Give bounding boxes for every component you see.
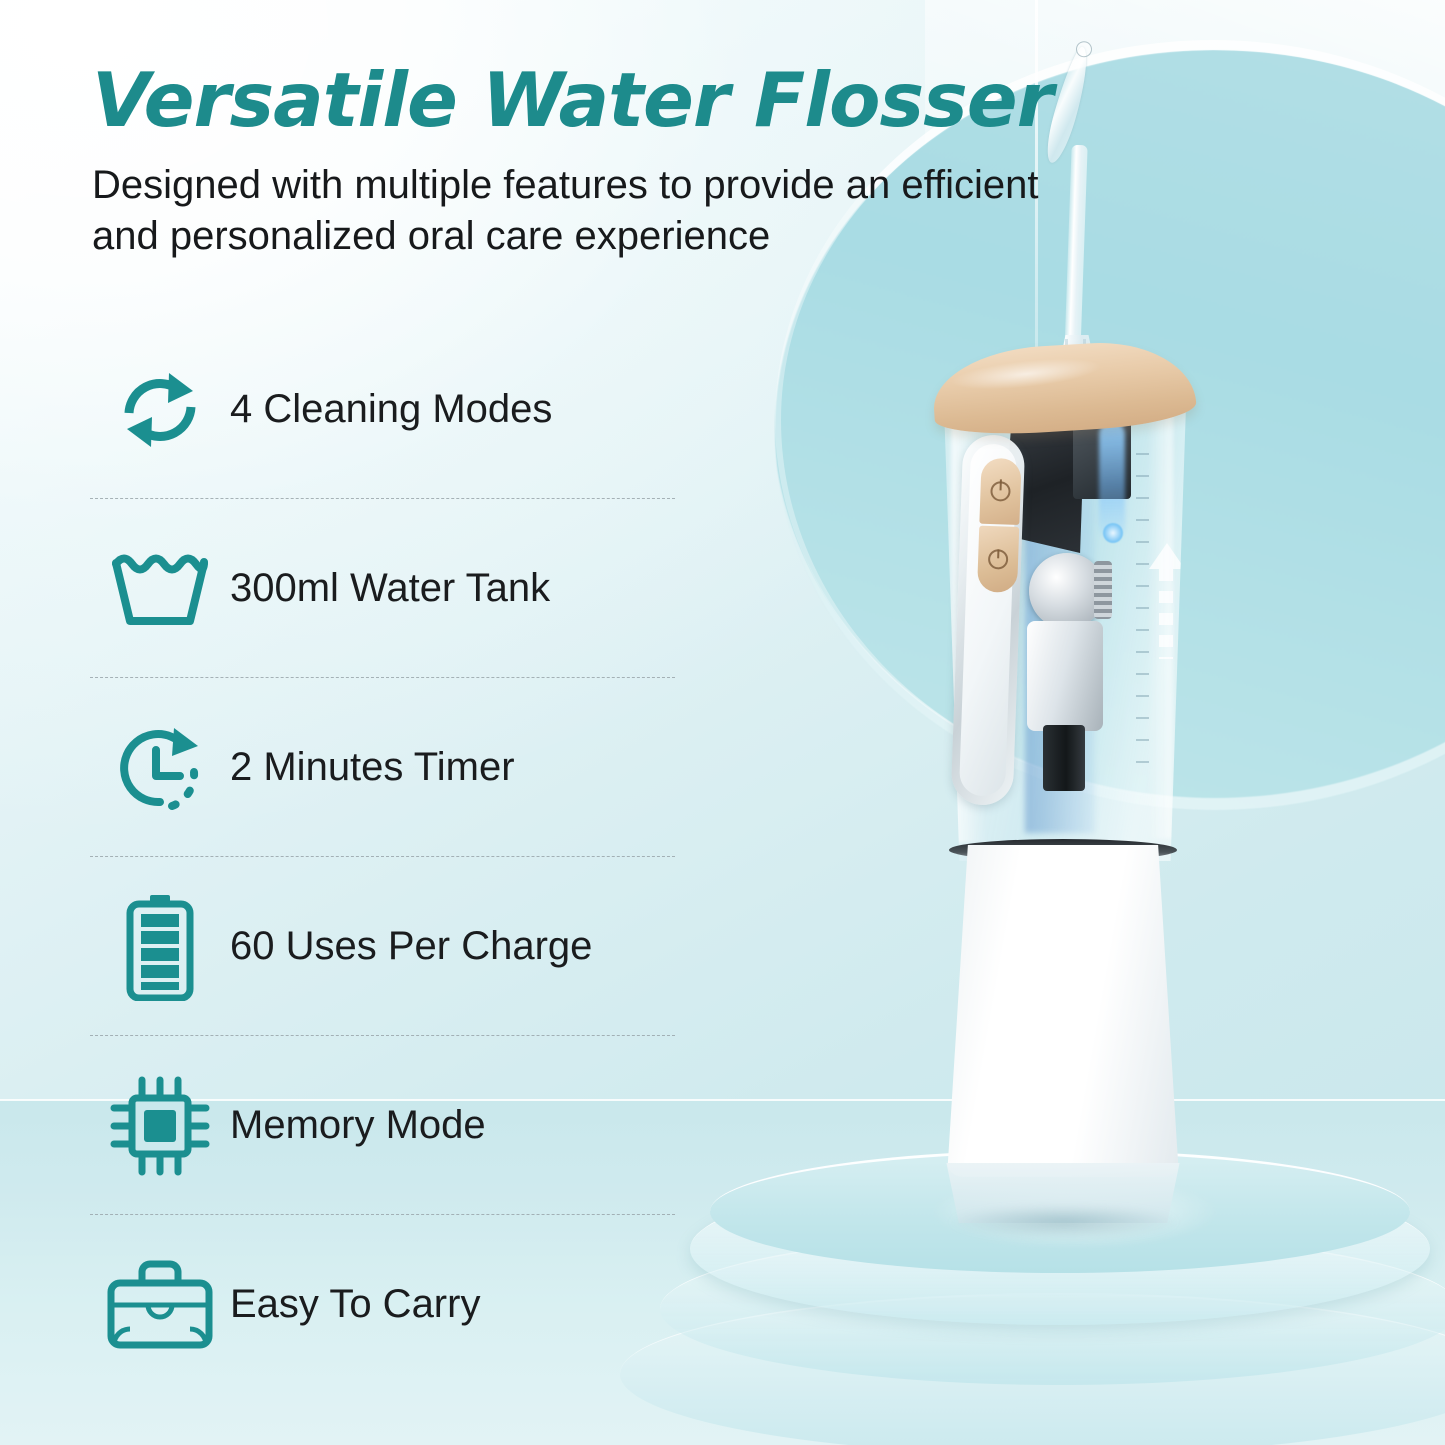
control-panel-inner: [959, 443, 1017, 796]
memory-chip-icon: [90, 1076, 230, 1176]
pump-barrel: [1027, 621, 1103, 731]
briefcase-icon: [90, 1259, 230, 1351]
control-panel[interactable]: [951, 434, 1026, 806]
tank-gloss-right: [1147, 409, 1173, 839]
feature-row-easy-to-carry: Easy To Carry: [90, 1215, 690, 1394]
feature-label: 300ml Water Tank: [230, 566, 550, 611]
mode-button[interactable]: [977, 526, 1019, 593]
timer-clock-icon: [90, 722, 230, 814]
feature-row-water-tank: 300ml Water Tank: [90, 499, 690, 678]
feature-label: Memory Mode: [230, 1103, 486, 1148]
water-tank-icon: [90, 549, 230, 629]
feature-row-memory-mode: Memory Mode: [90, 1036, 690, 1215]
white-base: [947, 845, 1179, 1177]
infographic-canvas: Versatile Water Flosser Designed with mu…: [0, 0, 1445, 1445]
power-button[interactable]: [979, 458, 1021, 525]
feature-label: 60 Uses Per Charge: [230, 924, 592, 969]
feature-list: 4 Cleaning Modes 300ml Water Tank: [90, 320, 690, 1394]
nozzle-shaft: [1064, 145, 1087, 355]
battery-icon: [90, 893, 230, 1001]
intake-stem: [1043, 725, 1085, 791]
mode-cycle-icon: [988, 549, 1009, 570]
feature-row-cleaning-modes: 4 Cleaning Modes: [90, 320, 690, 499]
page-subtitle: Designed with multiple features to provi…: [92, 160, 1042, 262]
tank-volume-scale: [1115, 453, 1149, 783]
feature-row-battery: 60 Uses Per Charge: [90, 857, 690, 1036]
feature-label: 2 Minutes Timer: [230, 745, 515, 790]
feature-row-timer: 2 Minutes Timer: [90, 678, 690, 857]
refresh-cycle-icon: [90, 367, 230, 453]
product-shadow: [949, 1205, 1179, 1239]
gear-wheel: [1029, 553, 1105, 629]
page-title: Versatile Water Flosser: [92, 62, 1053, 139]
power-icon: [990, 481, 1011, 502]
feature-label: 4 Cleaning Modes: [230, 387, 552, 432]
feature-label: Easy To Carry: [230, 1282, 480, 1327]
